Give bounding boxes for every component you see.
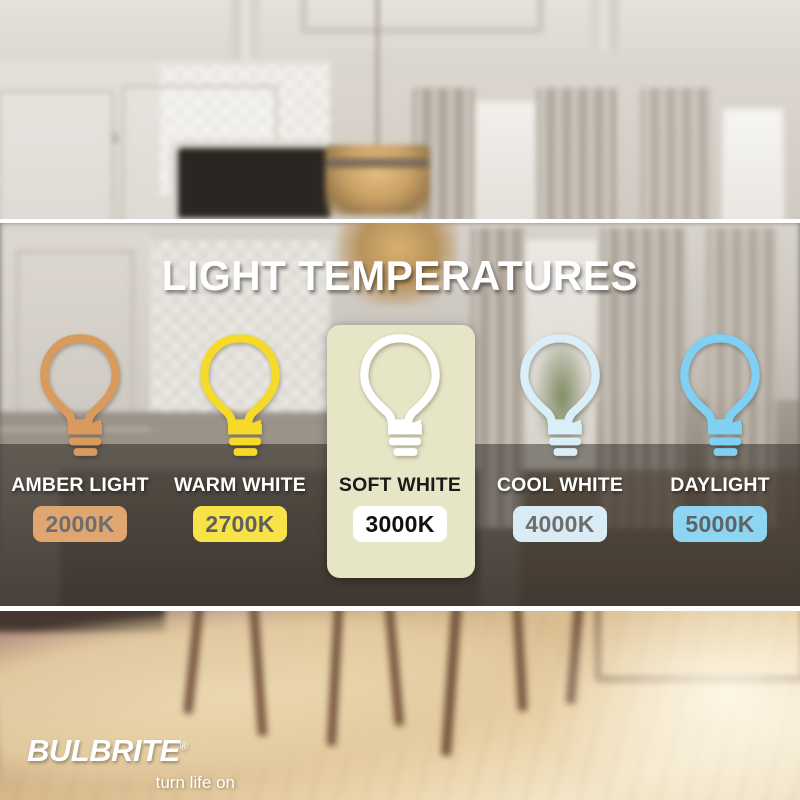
brand-logo: BULBRITE® turn life on [27, 735, 287, 791]
brand-name-text: BULBRITE [27, 733, 180, 768]
light-bulb-icon [508, 332, 612, 460]
light-bulb-icon [28, 332, 132, 460]
arch-opening [170, 140, 346, 222]
infographic-canvas: LIGHT TEMPERATURES AMBER LIGHT2000K WARM… [0, 0, 800, 800]
registered-trademark-icon: ® [180, 741, 188, 753]
temperature-label: SOFT WHITE [339, 474, 461, 497]
curtain-2 [536, 88, 616, 222]
brand-tagline: turn life on [27, 774, 235, 791]
temperature-column-cool-white[interactable]: COOL WHITE4000K [480, 322, 640, 607]
wall-panel-a [0, 90, 114, 222]
page-title: LIGHT TEMPERATURES [12, 252, 788, 300]
temperature-column-warm-white[interactable]: WARM WHITE2700K [160, 322, 320, 607]
cabinet-knob [112, 132, 118, 144]
curtain-3 [640, 88, 710, 222]
kelvin-badge: 4000K [513, 506, 607, 542]
temperature-label: AMBER LIGHT [11, 474, 149, 497]
temperature-label: COOL WHITE [497, 474, 623, 497]
chandelier-rim [325, 158, 430, 168]
kelvin-badge: 2700K [193, 506, 287, 542]
content-overlay: LIGHT TEMPERATURES AMBER LIGHT2000K WARM… [0, 222, 800, 607]
top-photo-band [0, 0, 800, 222]
temperature-column-amber-light[interactable]: AMBER LIGHT2000K [0, 322, 160, 607]
light-bulb-icon [188, 332, 292, 460]
kelvin-badge: 2000K [33, 506, 127, 542]
temperature-column-daylight[interactable]: DAYLIGHT5000K [640, 322, 800, 607]
kelvin-badge: 5000K [673, 506, 767, 542]
light-bulb-icon [668, 332, 772, 460]
kelvin-badge: 3000K [353, 506, 447, 542]
brand-name: BULBRITE® [27, 735, 187, 766]
light-bulb-icon [348, 332, 452, 460]
temperature-label: DAYLIGHT [670, 474, 769, 497]
window-center [474, 100, 538, 222]
room-photo-top [0, 0, 800, 222]
ceiling-coffer-inner [300, 0, 544, 34]
chandelier-cord [376, 0, 379, 145]
chandelier [325, 145, 430, 215]
temperature-label: WARM WHITE [174, 474, 306, 497]
window-right [722, 108, 784, 222]
window-light-glow [535, 611, 800, 800]
